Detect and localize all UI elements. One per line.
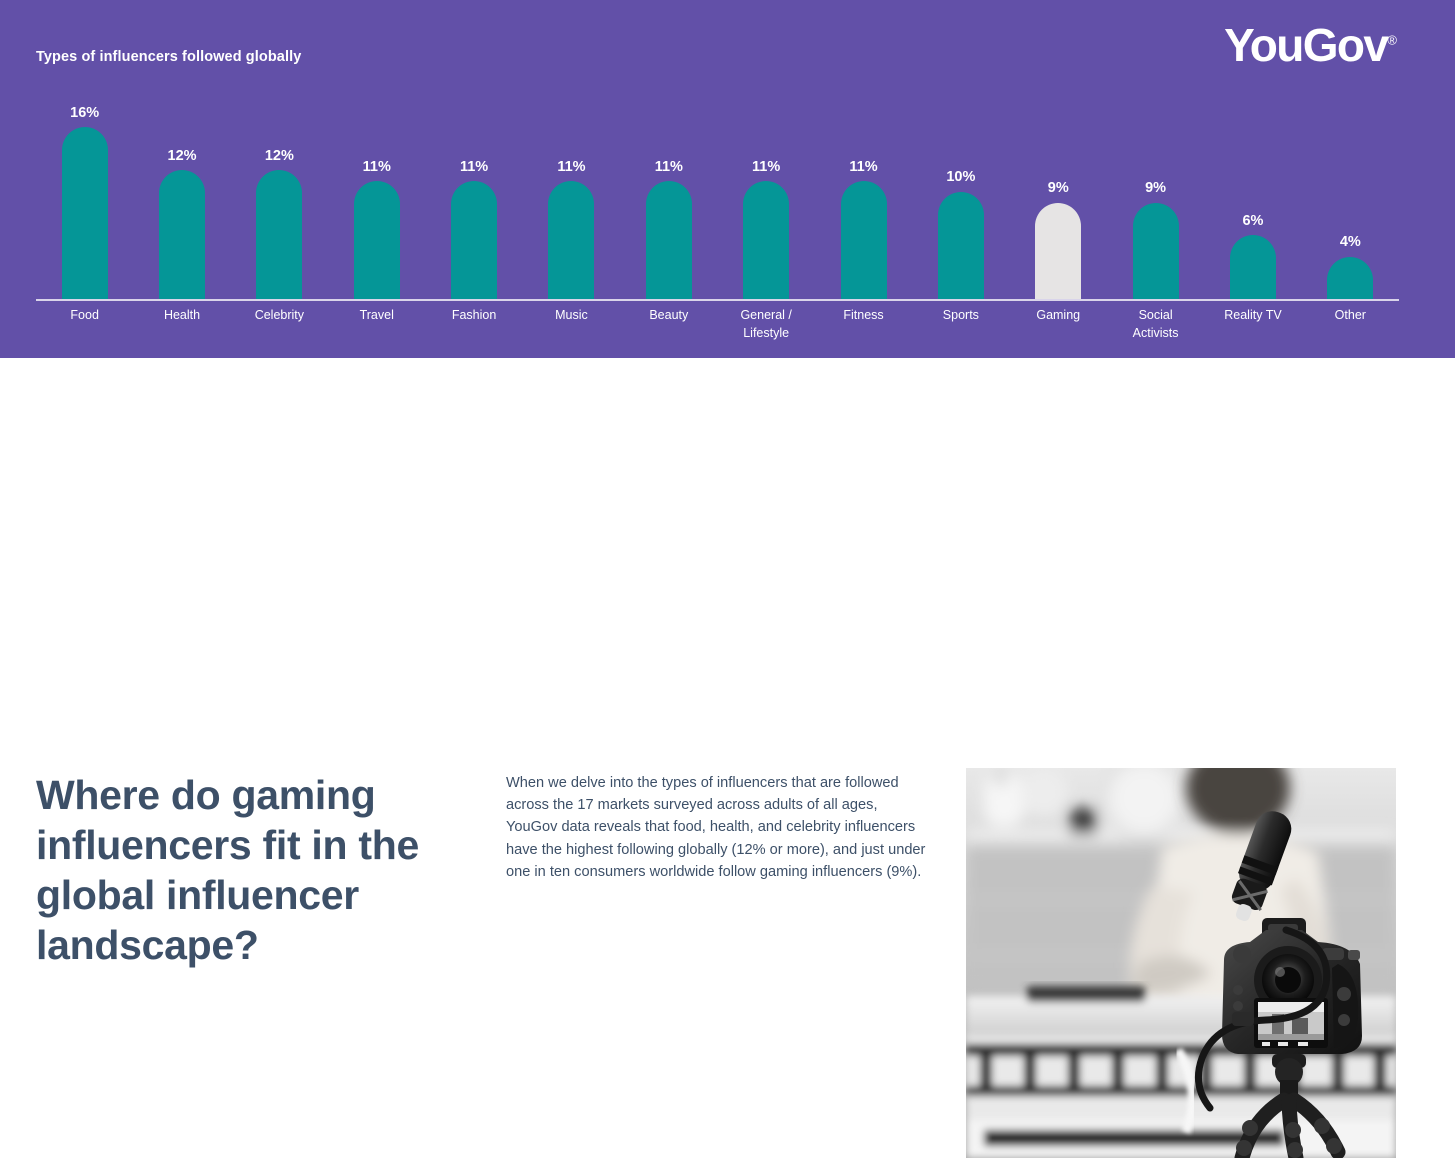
x-axis-label-line1: Beauty <box>620 306 717 324</box>
x-axis-label-line2: Lifestyle <box>718 324 815 342</box>
bar-shape[interactable] <box>841 181 887 300</box>
x-axis-label: Fashion <box>425 306 522 324</box>
bar-column-other[interactable]: 4% <box>1302 98 1399 300</box>
bar-value-label: 9% <box>1048 181 1069 196</box>
x-axis-label-line1: Celebrity <box>231 306 328 324</box>
bar-value-label: 6% <box>1242 214 1263 229</box>
x-axis-label: Food <box>36 306 133 324</box>
hero-photo <box>966 768 1396 1158</box>
x-axis-label-line2: Activists <box>1107 324 1204 342</box>
bar-column-beauty[interactable]: 11% <box>620 98 717 300</box>
bar-shape[interactable] <box>451 181 497 300</box>
chart-banner: Types of influencers followed globally Y… <box>0 0 1455 358</box>
bar-column-social[interactable]: 9% <box>1107 98 1204 300</box>
chart-x-axis-labels: FoodHealthCelebrityTravelFashionMusicBea… <box>36 306 1399 356</box>
bar-value-label: 11% <box>849 160 877 175</box>
bar-shape[interactable] <box>159 170 205 300</box>
x-axis-label-line1: Food <box>36 306 133 324</box>
x-axis-label: Health <box>133 306 230 324</box>
bar-shape[interactable] <box>548 181 594 300</box>
article-section: Where do gaming influencers fit in the g… <box>0 358 1455 826</box>
bar-shape[interactable] <box>646 181 692 300</box>
x-axis-label: SocialActivists <box>1107 306 1204 342</box>
bar-column-food[interactable]: 16% <box>36 98 133 300</box>
bar-column-gaming[interactable]: 9% <box>1010 98 1107 300</box>
bar-column-fashion[interactable]: 11% <box>425 98 522 300</box>
x-axis-label-line1: Music <box>523 306 620 324</box>
bar-shape[interactable] <box>354 181 400 300</box>
x-axis-label-line1: Gaming <box>1010 306 1107 324</box>
bar-shape[interactable] <box>1230 235 1276 300</box>
bar-value-label: 11% <box>752 160 780 175</box>
bar-column-reality-tv[interactable]: 6% <box>1204 98 1301 300</box>
chart-baseline <box>36 299 1399 301</box>
x-axis-label: Music <box>523 306 620 324</box>
registered-trademark-icon: ® <box>1387 33 1397 48</box>
x-axis-label: Gaming <box>1010 306 1107 324</box>
bar-value-label: 11% <box>460 160 488 175</box>
x-axis-label-line1: Health <box>133 306 230 324</box>
bar-shape[interactable] <box>256 170 302 300</box>
page-title: Where do gaming influencers fit in the g… <box>36 770 466 970</box>
bar-chart-plot-area: 16%12%12%11%11%11%11%11%11%10%9%9%6%4% <box>36 98 1399 300</box>
bar-shape[interactable] <box>1327 257 1373 300</box>
x-axis-label: Reality TV <box>1204 306 1301 324</box>
bar-value-label: 10% <box>946 170 975 185</box>
x-axis-label: General /Lifestyle <box>718 306 815 342</box>
bar-shape[interactable] <box>938 192 984 300</box>
bar-column-celebrity[interactable]: 12% <box>231 98 328 300</box>
bar-shape[interactable] <box>1133 203 1179 300</box>
x-axis-label: Beauty <box>620 306 717 324</box>
bar-value-label: 4% <box>1340 235 1361 250</box>
x-axis-label-line1: Fitness <box>815 306 912 324</box>
bar-value-label: 12% <box>168 149 197 164</box>
bar-value-label: 16% <box>70 106 99 121</box>
x-axis-label-line1: Fashion <box>425 306 522 324</box>
x-axis-label-line1: Other <box>1302 306 1399 324</box>
bar-column-health[interactable]: 12% <box>133 98 230 300</box>
x-axis-label-line1: General / <box>718 306 815 324</box>
x-axis-label-line1: Reality TV <box>1204 306 1301 324</box>
bar-value-label: 9% <box>1145 181 1166 196</box>
x-axis-label: Fitness <box>815 306 912 324</box>
bar-column-travel[interactable]: 11% <box>328 98 425 300</box>
x-axis-label: Celebrity <box>231 306 328 324</box>
x-axis-label: Travel <box>328 306 425 324</box>
bar-value-label: 11% <box>557 160 585 175</box>
x-axis-label-line1: Travel <box>328 306 425 324</box>
bar-shape[interactable] <box>1035 203 1081 300</box>
bar-value-label: 11% <box>655 160 683 175</box>
bar-value-label: 11% <box>363 160 391 175</box>
bar-column-music[interactable]: 11% <box>523 98 620 300</box>
x-axis-label: Sports <box>912 306 1009 324</box>
camera-filming-illustration <box>966 768 1396 1158</box>
bar-column-fitness[interactable]: 11% <box>815 98 912 300</box>
x-axis-label-line1: Social <box>1107 306 1204 324</box>
x-axis-label-line1: Sports <box>912 306 1009 324</box>
bar-column-general[interactable]: 11% <box>718 98 815 300</box>
bar-shape[interactable] <box>62 127 108 300</box>
bar-shape[interactable] <box>743 181 789 300</box>
brand-name: YouGov <box>1224 19 1387 71</box>
chart-title: Types of influencers followed globally <box>36 49 301 65</box>
bar-column-sports[interactable]: 10% <box>912 98 1009 300</box>
body-paragraph: When we delve into the types of influenc… <box>506 772 926 883</box>
yougov-logo: YouGov® <box>1224 22 1397 68</box>
x-axis-label: Other <box>1302 306 1399 324</box>
bar-value-label: 12% <box>265 149 294 164</box>
